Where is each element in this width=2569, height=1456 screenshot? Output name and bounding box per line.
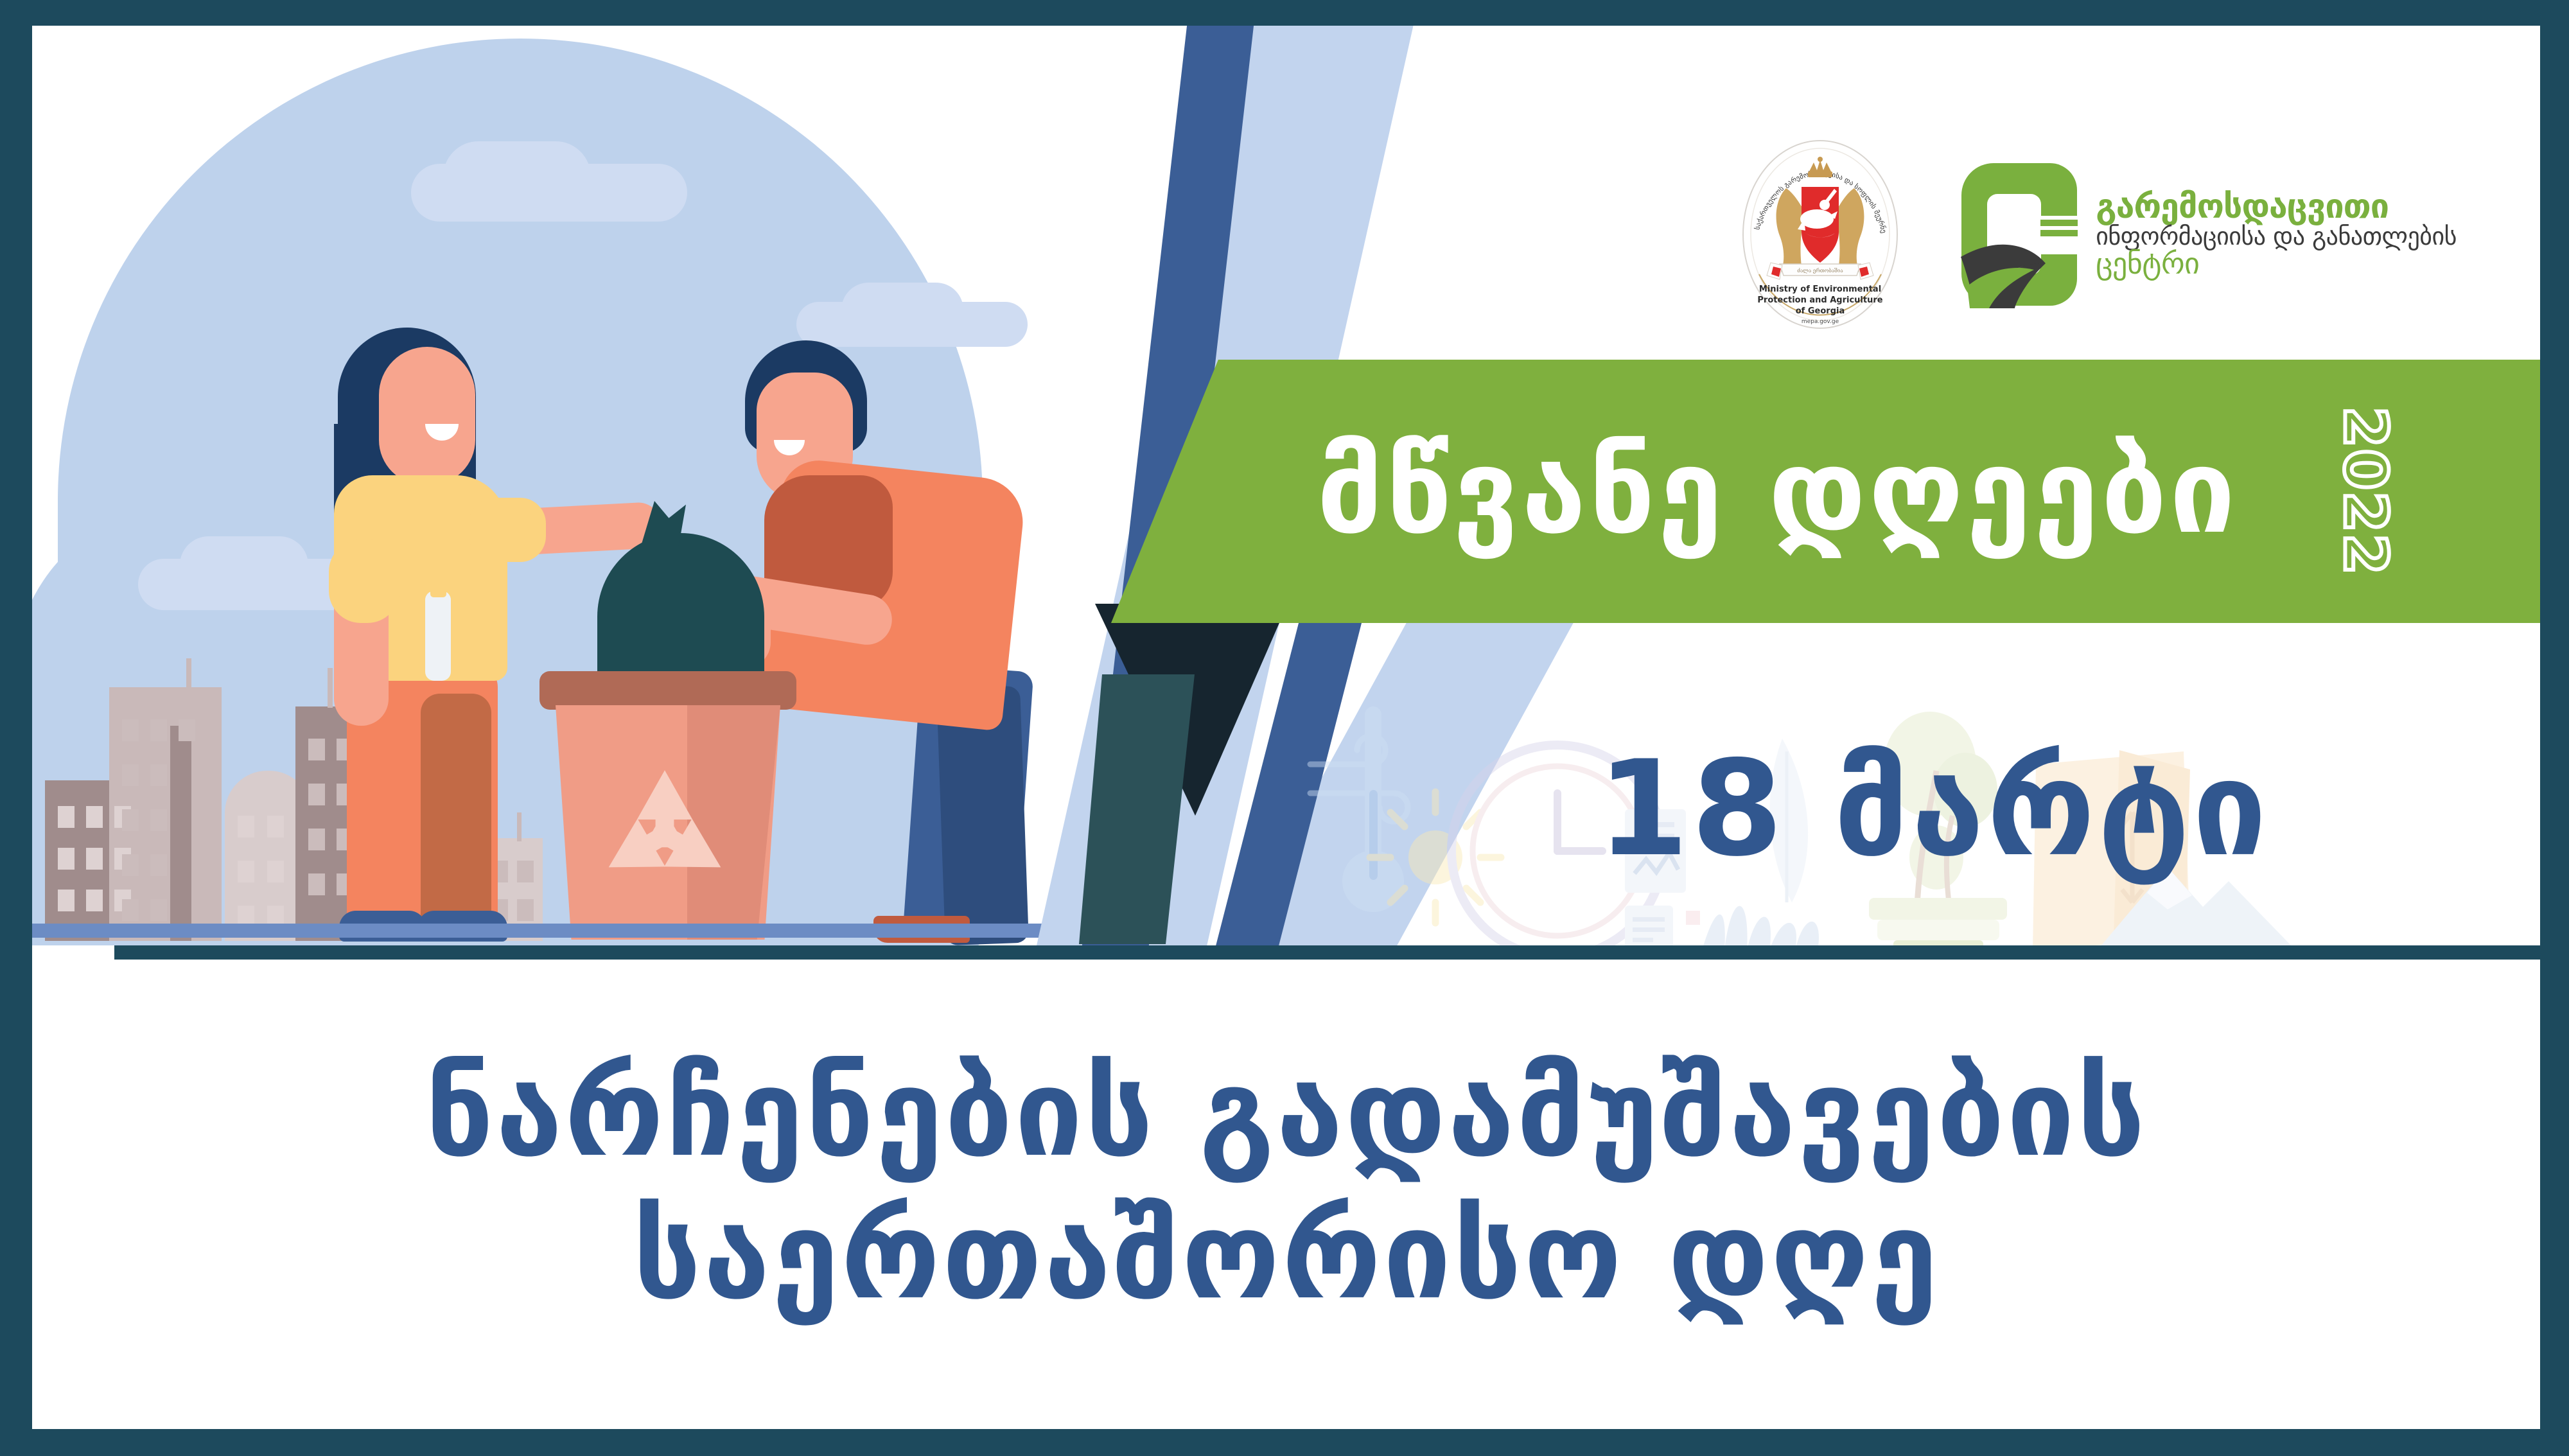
section-divider: [114, 945, 2540, 960]
seal-latin-line2: Protection and Agriculture: [1758, 295, 1883, 305]
ministry-seal-logo: საქართველოს გარემოს დაცვისა და სოფლის მე…: [1740, 138, 1900, 331]
top-section: საქართველოს გარემოს დაცვისა და სოფლის მე…: [32, 26, 2540, 945]
recycling-bin-lid: [539, 671, 796, 710]
bottle-cap-icon: [430, 579, 446, 597]
ground-strip: [32, 924, 1137, 938]
cloud-icon: [841, 283, 963, 337]
seal-website: mepa.gov.ge: [1802, 319, 1839, 325]
banner-title: მწვანე დღეები: [1317, 433, 2238, 550]
recycling-illustration: [32, 26, 1137, 945]
wind-icon: [1310, 736, 1408, 821]
eiec-line3: ცენტრი: [2096, 249, 2457, 279]
eiec-logo: გარემოსდაცვითი ინფორმაციისა და განათლები…: [1958, 161, 2457, 308]
thermometer-icon: [1342, 706, 1404, 912]
seal-latin-line3: of Georgia: [1796, 306, 1845, 316]
seal-latin-line1: Ministry of Environmental: [1759, 285, 1881, 294]
headline-line-1: ნარჩენების გადამუშავების: [425, 1042, 2147, 1185]
poster-root: საქართველოს გარემოს დაცვისა და სოფლის მე…: [0, 0, 2569, 1456]
event-date-text: 18 მარტი: [1597, 744, 2270, 875]
svg-text:ძალა ერთობაშია: ძალა ერთობაშია: [1798, 268, 1843, 274]
logo-row: საქართველოს გარემოს დაცვისა და სოფლის მე…: [1740, 138, 2457, 331]
plastic-bottle-icon: [425, 591, 451, 681]
bottom-section: ნარჩენების გადამუშავების საერთაშორისო დღ…: [32, 960, 2540, 1429]
cloud-icon: [443, 141, 591, 212]
banner-year: 2022: [2331, 407, 2399, 576]
cloud-icon: [180, 536, 308, 594]
eiec-logo-mark: [1958, 161, 2080, 308]
recycle-icon: [584, 758, 745, 912]
poster-inner-card: საქართველოს გარემოს დაცვისა და სოფლის მე…: [32, 26, 2540, 1429]
headline-line-2: საერთაშორისო დღე: [633, 1185, 1940, 1328]
event-date: 18 მარტი: [1477, 713, 2389, 906]
eiec-line2: ინფორმაციისა და განათლების: [2096, 224, 2457, 249]
eiec-logo-text: გარემოსდაცვითი ინფორმაციისა და განათლები…: [2096, 190, 2457, 279]
eiec-line1: გარემოსდაცვითი: [2096, 190, 2457, 224]
grass-icon: [1702, 906, 1819, 945]
green-banner: მწვანე დღეები: [1111, 360, 2540, 623]
